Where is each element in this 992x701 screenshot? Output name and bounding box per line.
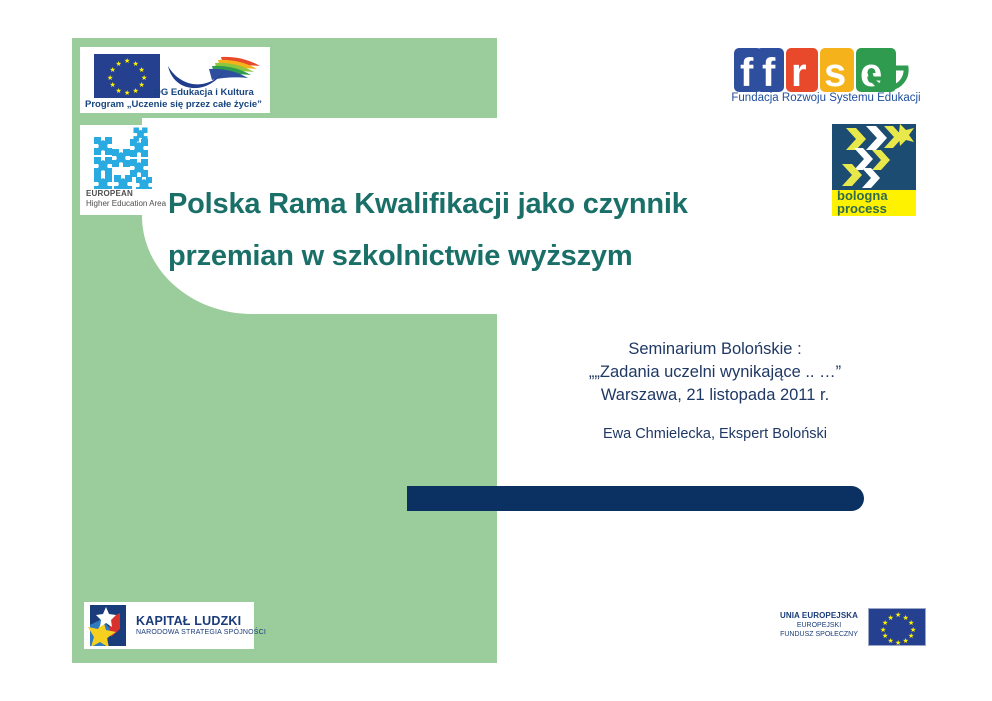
logo-bologna-line2: process xyxy=(837,202,887,215)
logo-frse-caption: Fundacja Rozwoju Systemu Edukacji xyxy=(722,92,930,104)
svg-text:f: f xyxy=(762,51,776,92)
decorative-navy-bar xyxy=(407,486,864,511)
logo-esf-line2: EUROPEJSKI xyxy=(778,621,860,631)
eu-flag-icon: ★ ★ ★ ★ ★ ★ ★ ★ ★ ★ ★ ★ xyxy=(868,608,926,646)
logo-dg-programme: Program „Uczenie się przez całe życie” xyxy=(85,99,262,110)
logo-esf: UNIA EUROPEJSKA EUROPEJSKI FUNDUSZ SPOŁE… xyxy=(778,608,928,648)
rainbow-swoosh-icon xyxy=(166,53,262,89)
speaker-name: Ewa Chmielecka, Ekspert Boloński xyxy=(540,426,890,442)
logo-dg-name: DG Edukacja i Kultura xyxy=(154,87,254,98)
subtitle-line2: „„Zadania uczelni wynikające .. …” xyxy=(540,361,890,384)
logo-ehea: EUROPEAN Higher Education Area xyxy=(80,125,180,215)
subtitle-block: Seminarium Bolońskie : „„Zadania uczelni… xyxy=(540,338,890,407)
logo-esf-line1: UNIA EUROPEJSKA xyxy=(778,611,860,621)
logo-ehea-line2: Higher Education Area xyxy=(86,199,166,208)
bologna-chevrons-icon xyxy=(832,124,916,190)
frse-wordmark-icon: f f r s e xyxy=(734,48,920,92)
logo-esf-text: UNIA EUROPEJSKA EUROPEJSKI FUNDUSZ SPOŁE… xyxy=(778,611,860,640)
svg-text:r: r xyxy=(791,51,807,92)
eu-flag-icon: ★ ★ ★ ★ ★ ★ ★ ★ ★ ★ ★ ★ xyxy=(94,54,160,98)
subtitle-line1: Seminarium Bolońskie : xyxy=(540,338,890,361)
page-title-line1: Polska Rama Kwalifikacji jako czynnik xyxy=(168,178,808,230)
logo-kl-line1: KAPITAŁ LUDZKI xyxy=(136,614,241,628)
kapital-ludzki-stars-icon xyxy=(88,605,128,646)
subtitle-line3: Warszawa, 21 listopada 2011 r. xyxy=(540,384,890,407)
logo-frse: f f r s e Fundacja Rozwoju Systemu Eduka… xyxy=(722,48,930,112)
logo-kapital-ludzki: KAPITAŁ LUDZKI NARODOWA STRATEGIA SPÓJNO… xyxy=(84,602,254,649)
svg-text:s: s xyxy=(824,51,846,92)
svg-text:f: f xyxy=(740,51,754,92)
logo-kl-line2: NARODOWA STRATEGIA SPÓJNOŚCI xyxy=(136,629,266,636)
puzzle-pieces-icon xyxy=(86,127,176,189)
page-title: Polska Rama Kwalifikacji jako czynnik pr… xyxy=(168,178,808,282)
logo-esf-line3: FUNDUSZ SPOŁECZNY xyxy=(778,630,860,640)
logo-bologna-process: bologna process xyxy=(832,124,916,216)
page-title-line2: przemian w szkolnictwie wyższym xyxy=(168,230,808,282)
logo-dg-education: ★ ★ ★ ★ ★ ★ ★ ★ ★ ★ ★ ★ DG Edukacja i Ku… xyxy=(80,47,270,113)
logo-ehea-line1: EUROPEAN xyxy=(86,189,133,198)
